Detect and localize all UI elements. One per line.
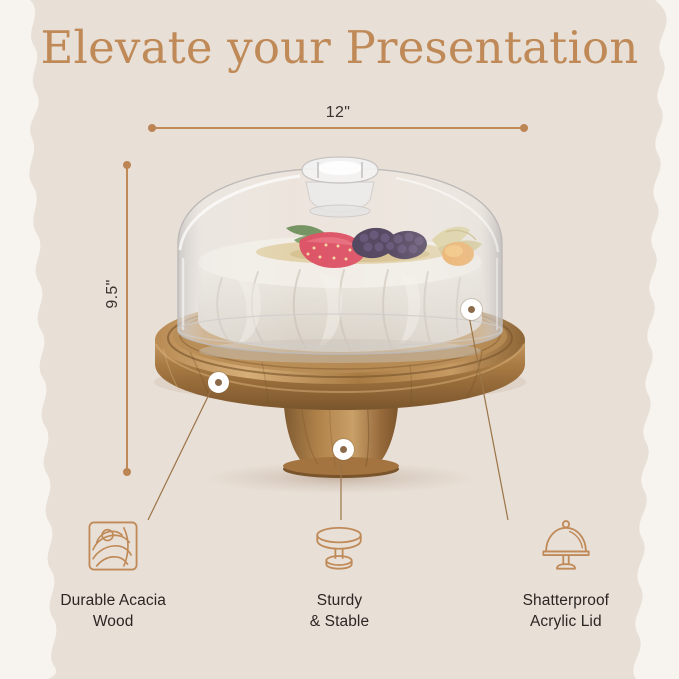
width-dimension-label: 12" bbox=[152, 104, 524, 122]
width-dimension-line bbox=[152, 127, 524, 129]
height-dimension-label: 9.5" bbox=[104, 264, 122, 324]
feature-label: Durable Acacia Wood bbox=[60, 591, 166, 632]
height-dimension-cap-bottom bbox=[123, 468, 131, 476]
width-dimension-cap-right bbox=[520, 124, 528, 132]
feature-label: Shatterproof Acrylic Lid bbox=[523, 591, 610, 632]
feature-list: Durable Acacia Wood Sturdy & Stable bbox=[0, 515, 679, 632]
wood-rim-marker[interactable] bbox=[208, 372, 229, 393]
infographic-canvas: Elevate your Presentation 12" 9.5" bbox=[0, 0, 679, 679]
feature-label: Sturdy & Stable bbox=[310, 591, 369, 632]
acrylic-dome-marker[interactable] bbox=[461, 299, 482, 320]
feature-shatterproof-acrylic-lid[interactable]: Shatterproof Acrylic Lid bbox=[453, 515, 679, 632]
pedestal-base-marker[interactable] bbox=[333, 439, 354, 460]
width-dimension-cap-left bbox=[148, 124, 156, 132]
dome-knob bbox=[302, 157, 378, 217]
cake-stand-icon bbox=[304, 515, 374, 577]
height-dimension-cap-top bbox=[123, 161, 131, 169]
wood-grain-icon bbox=[78, 515, 148, 577]
dome-lid-icon bbox=[531, 515, 601, 577]
feature-sturdy-and-stable[interactable]: Sturdy & Stable bbox=[226, 515, 452, 632]
page-title: Elevate your Presentation bbox=[0, 24, 679, 71]
height-dimension-line bbox=[126, 165, 128, 472]
feature-durable-acacia-wood[interactable]: Durable Acacia Wood bbox=[0, 515, 226, 632]
